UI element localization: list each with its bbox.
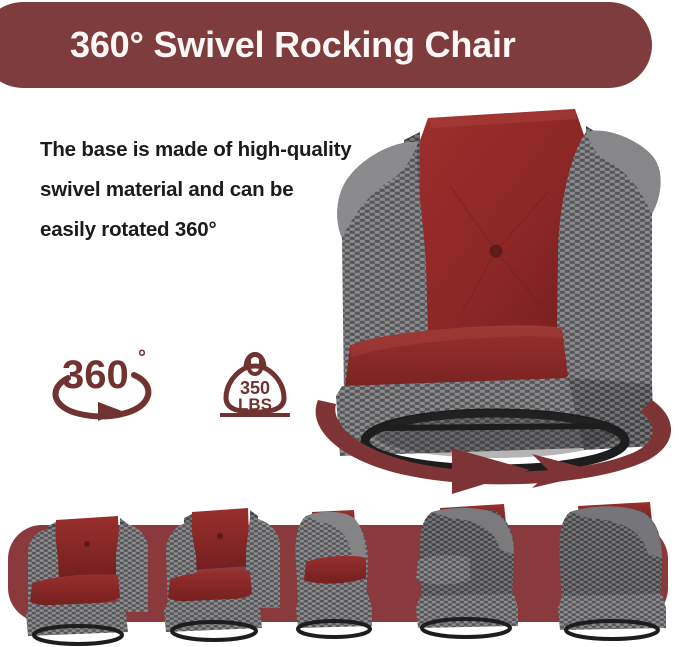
weight-unit: LBS [238, 395, 272, 414]
hero-chair-image [300, 96, 679, 496]
chair-rotation-sequence [0, 492, 679, 647]
chair-view-front [26, 516, 148, 644]
rotation-360-icon: 360 ° [46, 344, 158, 422]
chair-view-rear-angled [416, 504, 518, 637]
chair-right-arm [556, 131, 661, 396]
chair-view-side [295, 510, 372, 637]
chair-view-back [558, 502, 666, 639]
chair-view-front-angled [164, 508, 280, 640]
weight-capacity-icon: 350 LBS [216, 342, 294, 422]
rotation-360-value: 360 [62, 353, 129, 397]
header-banner: 360° Swivel Rocking Chair [0, 2, 652, 88]
feature-icon-row: 360 ° 350 LBS [46, 342, 294, 422]
rotation-360-degree: ° [138, 347, 146, 369]
page-title: 360° Swivel Rocking Chair [70, 24, 516, 66]
